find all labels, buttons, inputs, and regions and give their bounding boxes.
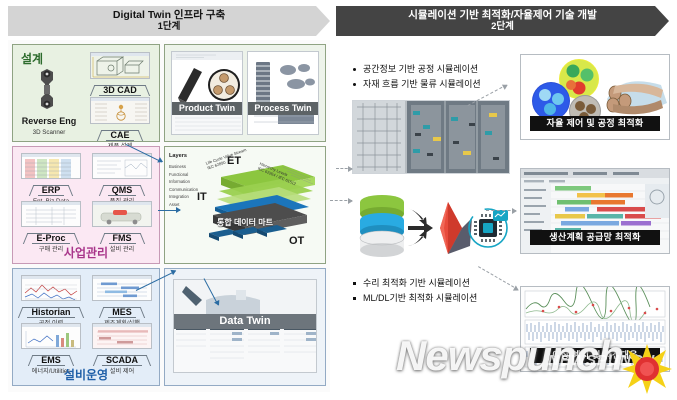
result-caption-autonomous-control: 자율 제어 및 공정 최적화 [530, 116, 660, 131]
mes-thumbnail [92, 275, 152, 301]
cad-thumbnail [90, 52, 150, 79]
cube-tag-ot: OT [289, 235, 304, 247]
data-twin-panel: Data Twin [164, 268, 326, 386]
module-eproc-name: E-Proc [32, 233, 69, 244]
module-reverse-eng-sub: 3D Scanner [13, 129, 85, 136]
eproc-thumbnail [21, 201, 81, 227]
historian-thumbnail [21, 275, 81, 301]
module-qms-name: QMS [108, 185, 137, 196]
stage2-banner: 시뮬레이션 기반 최적화/자율제어 기술 개발 2단계 [336, 6, 669, 36]
scada-thumbnail [92, 323, 152, 349]
diagram-canvas: Digital Twin 인프라 구축 1단계 시뮬레이션 기반 최적화/자율제… [0, 0, 677, 400]
ems-thumbnail [21, 323, 81, 349]
business-panel: ERP Ent. Biz Data QMS 품질 관리 [12, 146, 160, 264]
data-twin-card: Data Twin [173, 279, 317, 373]
module-historian-name: Historian [27, 307, 74, 318]
watermark-starburst-icon [622, 344, 672, 394]
process-twin-caption: Process Twin [248, 102, 318, 115]
arrow-biz-to-cube [158, 210, 180, 211]
module-3dcad-name: 3D CAD [99, 85, 141, 96]
stage1-banner-title: Digital Twin 인프라 구축 [113, 10, 225, 22]
reverse-eng-figure [27, 67, 69, 111]
operations-panel: Historian 공정 이력 MES 제조계획/실행 [12, 268, 160, 386]
analytics-engine-graphic [352, 188, 508, 270]
bullet-top-2: 자재 흐름 기반 물류 시뮬레이션 [352, 77, 481, 92]
stage1-panel: 설계 Reverse Eng 3D Scanner [8, 40, 330, 392]
stage2-bullets-top: 공간정보 기반 공정 시뮬레이션 자재 흐름 기반 물류 시뮬레이션 [352, 62, 481, 92]
stage2-banner-title: 시뮬레이션 기반 최적화/자율제어 기술 개발 [408, 10, 596, 22]
stage1-banner: Digital Twin 인프라 구축 1단계 [8, 6, 330, 36]
module-scada-name: SCADA [102, 355, 142, 366]
operations-panel-title: 설비운영 [13, 366, 159, 383]
process-twin-card: Process Twin [247, 51, 319, 135]
module-mes-name: MES [108, 307, 136, 318]
fms-thumbnail [92, 201, 152, 227]
result-caption-supply-chain: 생산계획 공급망 최적화 [530, 230, 660, 245]
design-panel: 설계 Reverse Eng 3D Scanner [12, 44, 160, 142]
result-card-autonomous-control: 자율 제어 및 공정 최적화 [520, 54, 670, 140]
stage2-banner-step: 2단계 [408, 22, 596, 33]
bullet-top-1: 공간정보 기반 공정 시뮬레이션 [352, 62, 481, 77]
simulation-image [352, 100, 510, 174]
stage2-bullets-bottom: 수리 최적화 기반 시뮬레이션 ML/DL기반 최적화 시뮬레이션 [352, 276, 477, 306]
module-cae-name: CAE [106, 130, 133, 141]
stage1-banner-step: 1단계 [113, 22, 225, 33]
arrow-stage1-to-stage2 [330, 200, 352, 202]
arrow-engine-to-result2 [486, 210, 516, 212]
module-ems-name: EMS [37, 355, 65, 366]
erp-thumbnail [21, 153, 81, 179]
design-panel-title: 설계 [21, 50, 43, 67]
module-fms-name: FMS [109, 233, 136, 244]
business-panel-title: 사업관리 [13, 244, 159, 261]
cube-center-label: 통합 데이터 마트 [217, 217, 273, 228]
data-twin-caption: Data Twin [174, 314, 316, 329]
bullet-bottom-1: 수리 최적화 기반 시뮬레이션 [352, 276, 477, 291]
cae-thumbnail [90, 97, 150, 124]
data-mart-cube-panel: Layers Business Functional Information C… [164, 146, 326, 264]
product-twin-card: Product Twin [171, 51, 243, 135]
module-erp-name: ERP [38, 185, 65, 196]
twins-panel: Product Twin Process Twin [164, 44, 326, 142]
cube-layers-header: Layers [169, 153, 187, 159]
bullet-bottom-2: ML/DL기반 최적화 시뮬레이션 [352, 291, 477, 306]
qms-thumbnail [92, 153, 152, 179]
cube-tag-it: IT [197, 191, 207, 203]
product-twin-caption: Product Twin [172, 102, 242, 115]
module-reverse-eng-name: Reverse Eng [22, 116, 77, 126]
result-card-supply-chain: 생산계획 공급망 최적화 [520, 168, 670, 254]
arrow-result1-to-engine [336, 168, 352, 170]
